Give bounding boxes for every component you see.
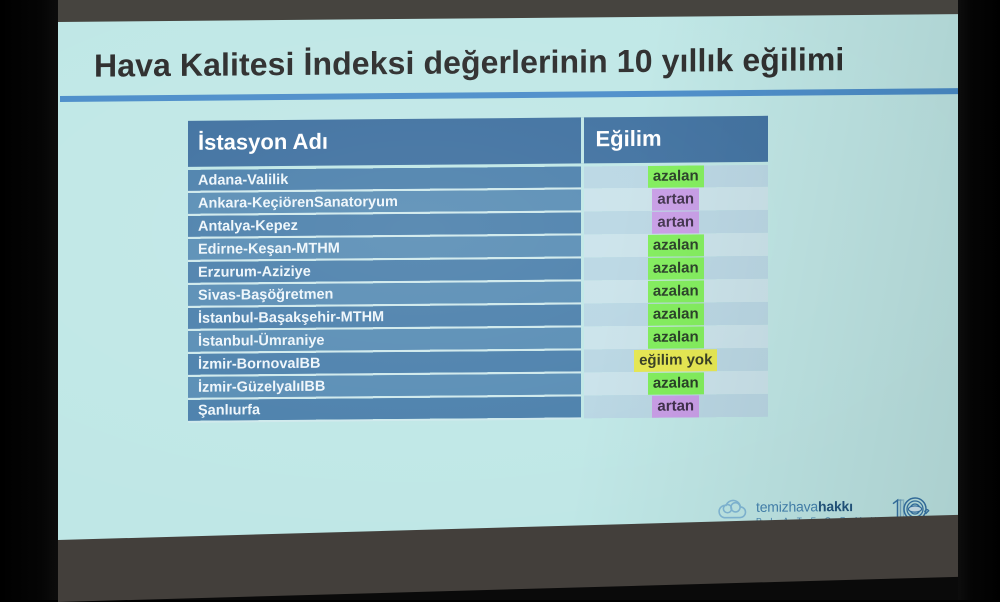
cell-station-name: Şanlıurfa	[188, 395, 582, 421]
trend-highlight-green: azalan	[648, 257, 704, 279]
cell-trend-value: azalan	[582, 302, 768, 327]
cell-trend-value: artan	[582, 210, 768, 235]
trend-highlight-purple: artan	[652, 395, 699, 417]
cell-station-name: Ankara-KeçiörenSanatoryum	[188, 188, 582, 214]
cell-trend-value: artan	[582, 394, 768, 419]
cell-trend-value: azalan	[582, 256, 768, 281]
cell-trend-value: azalan	[582, 371, 768, 396]
trend-highlight-green: azalan	[648, 372, 704, 394]
cell-station-name: Antalya-Kepez	[188, 211, 582, 237]
trend-highlight-green: azalan	[648, 326, 704, 348]
cell-station-name: İstanbul-Ümraniye	[188, 326, 582, 352]
column-header-station: İstasyon Adı	[188, 117, 582, 168]
cell-trend-value: eğilim yok	[582, 348, 768, 373]
trend-table-container: İstasyon Adı Eğilim Adana-ValilikazalanA…	[188, 116, 768, 423]
cell-trend-value: azalan	[582, 233, 768, 258]
trend-highlight-green: azalan	[648, 234, 704, 256]
title-divider	[60, 88, 958, 102]
table-body: Adana-ValilikazalanAnkara-KeçiörenSanato…	[188, 163, 768, 422]
cell-trend-value: azalan	[582, 325, 768, 350]
table-row: Şanlıurfaartan	[188, 394, 768, 422]
cell-station-name: İzmir-GüzelyalıIBB	[188, 372, 582, 398]
trend-highlight-green: azalan	[648, 165, 704, 187]
trend-highlight-green: azalan	[648, 280, 704, 302]
room-left-shadow	[0, 0, 58, 600]
room-right-shadow	[958, 0, 1000, 600]
air-quality-trend-table: İstasyon Adı Eğilim Adana-ValilikazalanA…	[188, 116, 768, 423]
cell-station-name: İstanbul-Başakşehir-MTHM	[188, 303, 582, 329]
table-header-row: İstasyon Adı Eğilim	[188, 116, 768, 169]
projection-room: Hava Kalitesi İndeksi değerlerinin 10 yı…	[0, 0, 1000, 600]
trend-highlight-purple: artan	[652, 211, 699, 233]
cell-trend-value: artan	[582, 187, 768, 212]
table-header: İstasyon Adı Eğilim	[188, 116, 768, 169]
cell-station-name: Sivas-Başöğretmen	[188, 280, 582, 306]
trend-highlight-yellow: eğilim yok	[634, 349, 717, 372]
cell-station-name: Erzurum-Aziziye	[188, 257, 582, 283]
column-header-trend: Eğilim	[582, 116, 768, 165]
cell-station-name: Edirne-Keşan-MTHM	[188, 234, 582, 260]
presentation-slide: Hava Kalitesi İndeksi değerlerinin 10 yı…	[58, 14, 958, 550]
cell-station-name: Adana-Valilik	[188, 165, 582, 192]
page-title: Hava Kalitesi İndeksi değerlerinin 10 yı…	[94, 40, 934, 84]
trend-highlight-green: azalan	[648, 303, 704, 325]
cell-trend-value: azalan	[582, 163, 768, 188]
logo-word-plain: temizhava	[756, 498, 818, 515]
logo-word-bold: hakkı	[818, 498, 853, 514]
trend-highlight-purple: artan	[652, 188, 699, 210]
cell-station-name: İzmir-BornovaIBB	[188, 349, 582, 375]
cell-trend-value: azalan	[582, 279, 768, 304]
logo-word-main: temizhavahakkı	[756, 499, 880, 514]
